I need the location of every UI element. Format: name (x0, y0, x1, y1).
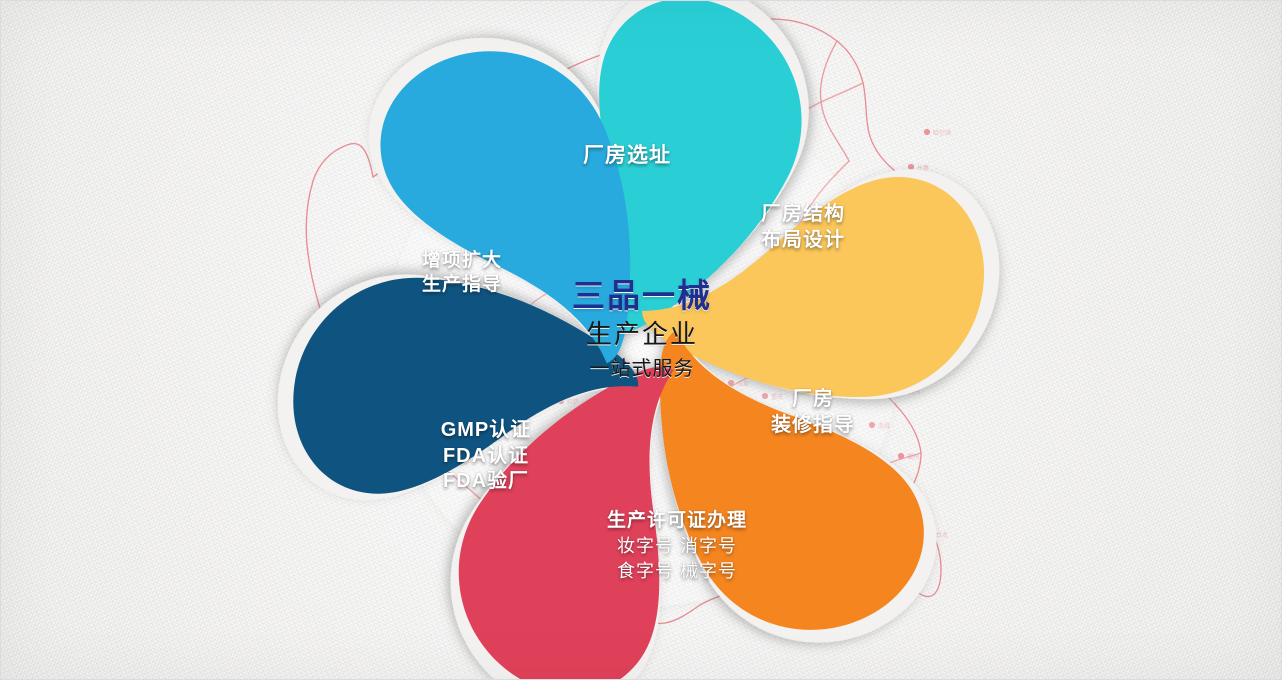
petal-wheel (1, 1, 1282, 680)
infographic-canvas: 哈尔滨长春沈阳北京太原济南郑州南京上海武汉杭州南昌福州广州台北香港海口重庆西安兰… (0, 0, 1282, 680)
